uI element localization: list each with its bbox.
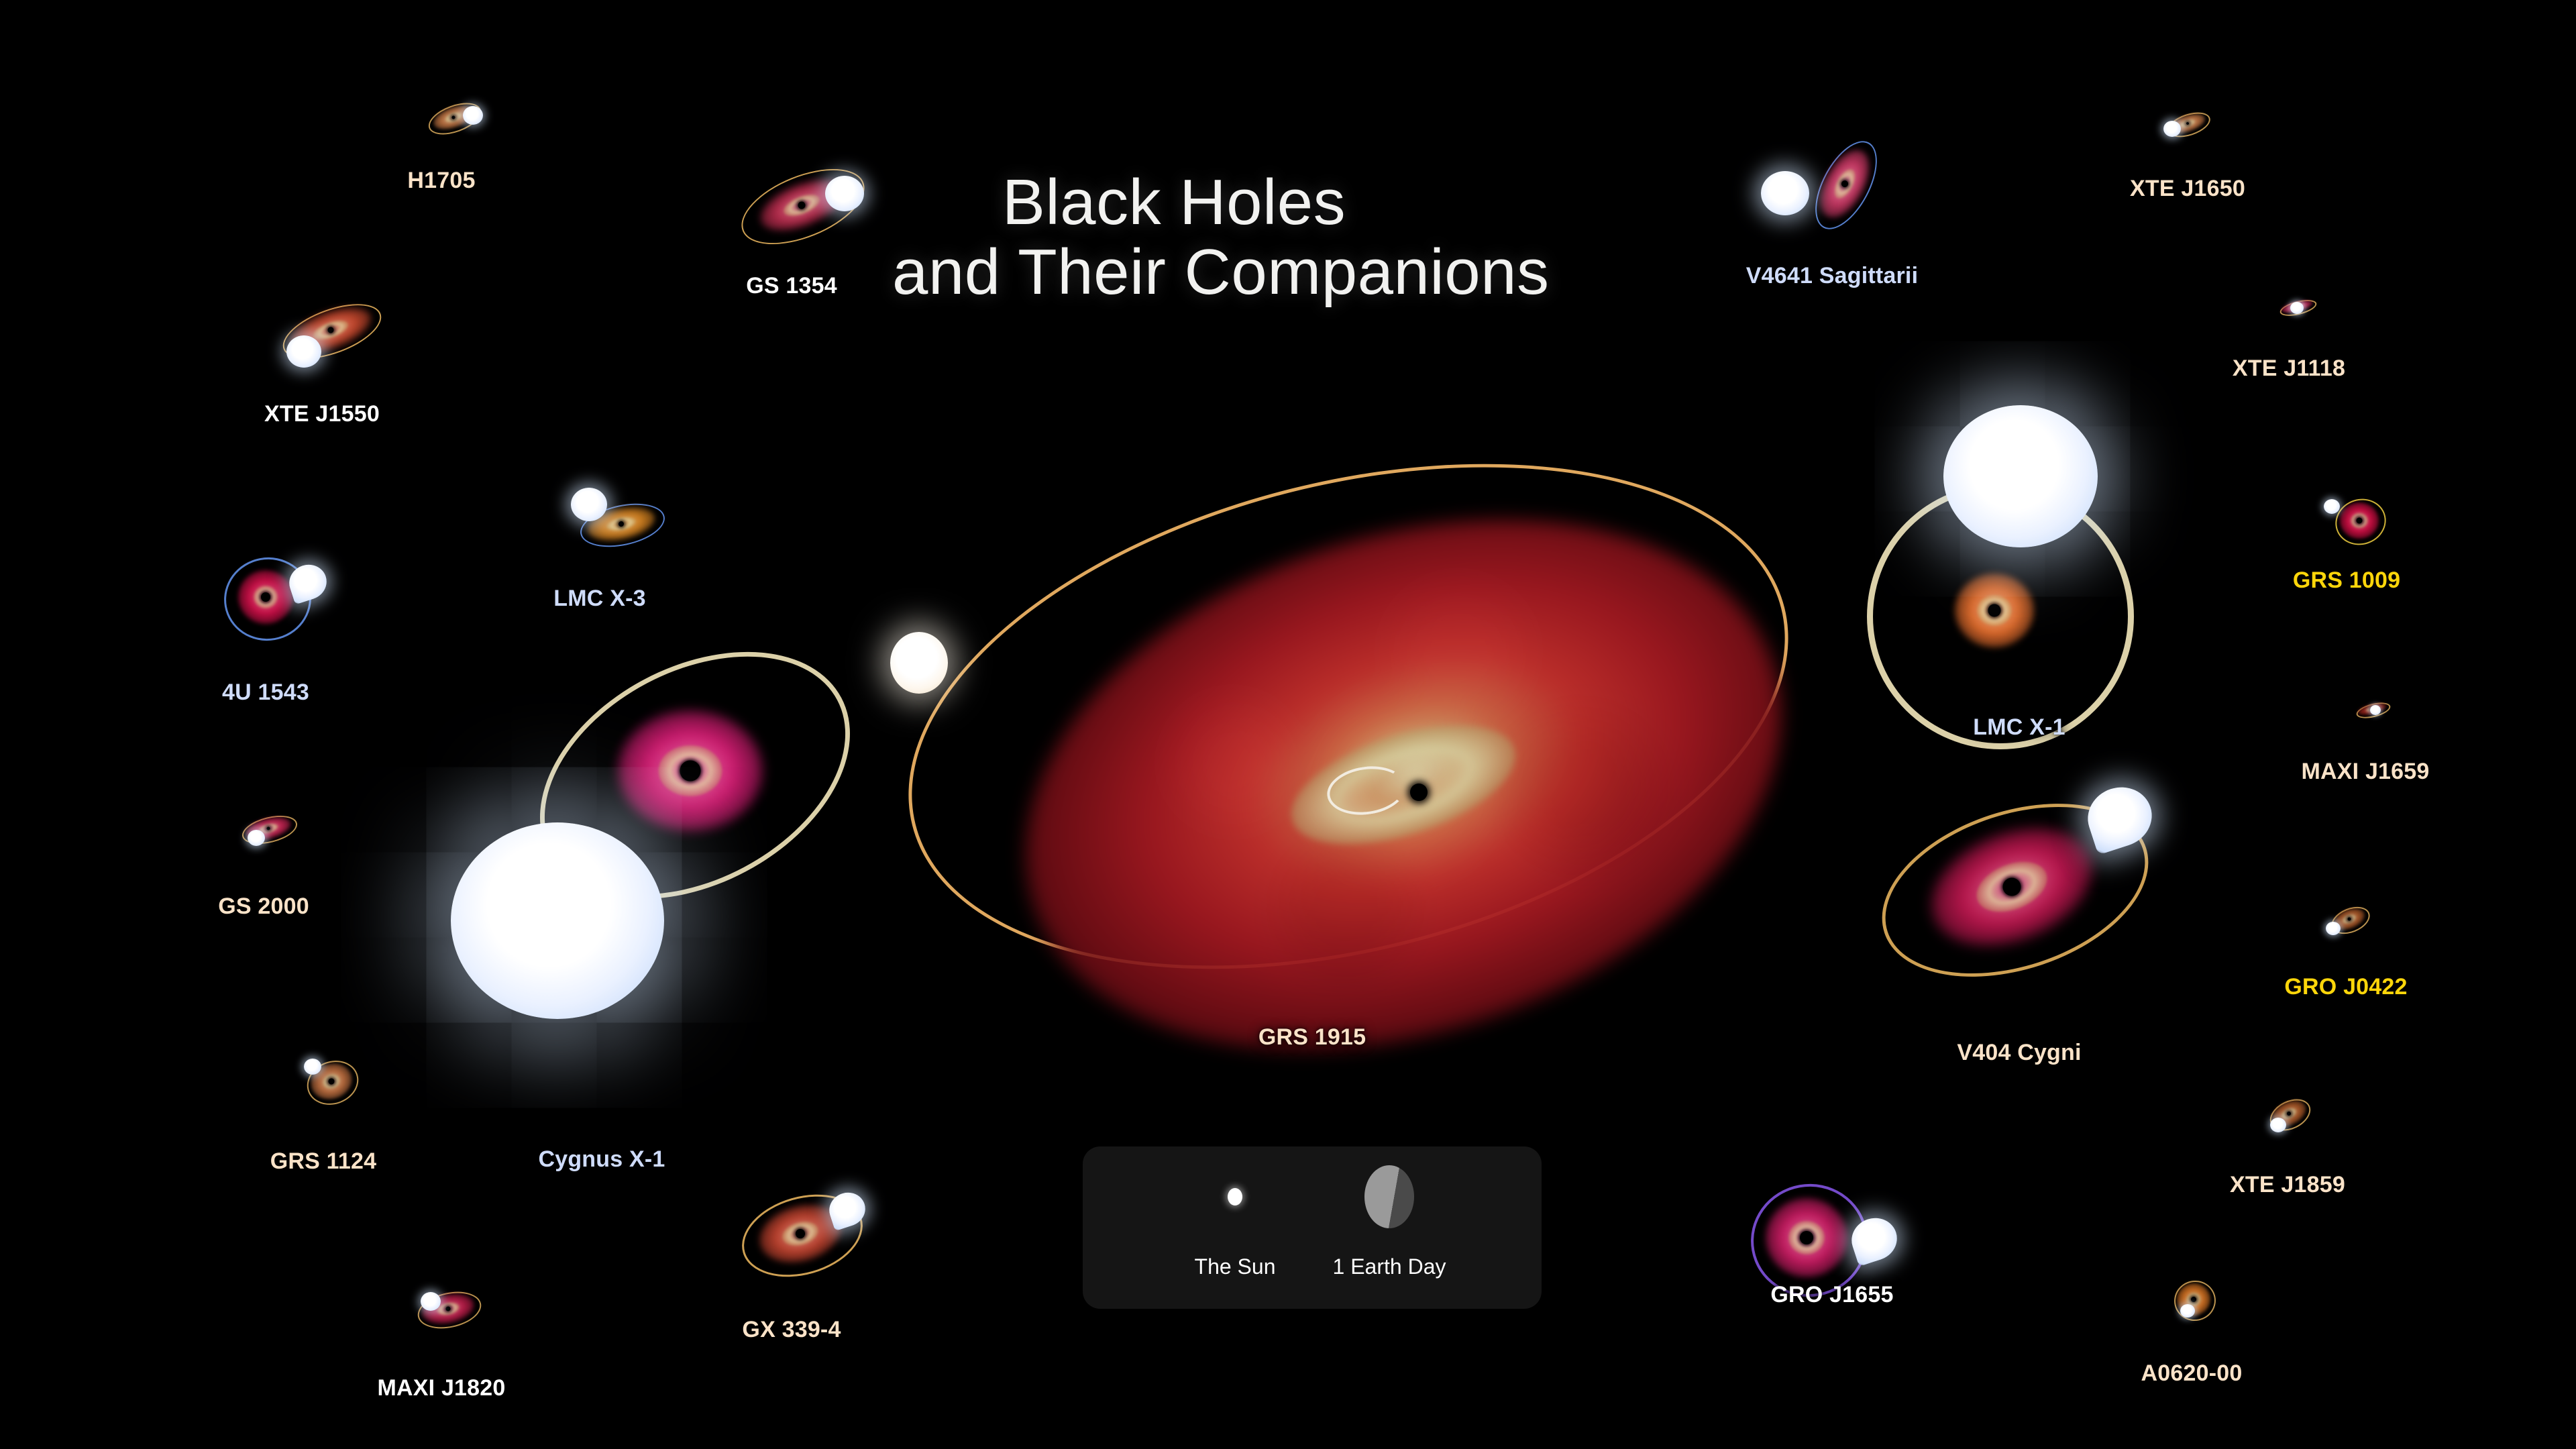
companion-star [2180,1304,2195,1318]
legend-label-sun: The Sun [1195,1254,1276,1279]
legend-label-earth-day: 1 Earth Day [1333,1254,1446,1279]
legend-art-sun [1158,1146,1312,1246]
sun-dot-icon [1228,1188,1242,1205]
system-label: A0620-00 [2141,1360,2243,1387]
legend-item-sun[interactable]: The Sun [1158,1146,1312,1309]
earth-day-disc-icon [1364,1165,1414,1228]
starfield-canvas: Black Holes and Their Companions GRS 191… [0,0,2576,1449]
scale-legend: The Sun 1 Earth Day [1083,1146,1542,1309]
legend-art-earth-day [1312,1146,1466,1246]
legend-item-earth-day[interactable]: 1 Earth Day [1312,1146,1466,1309]
